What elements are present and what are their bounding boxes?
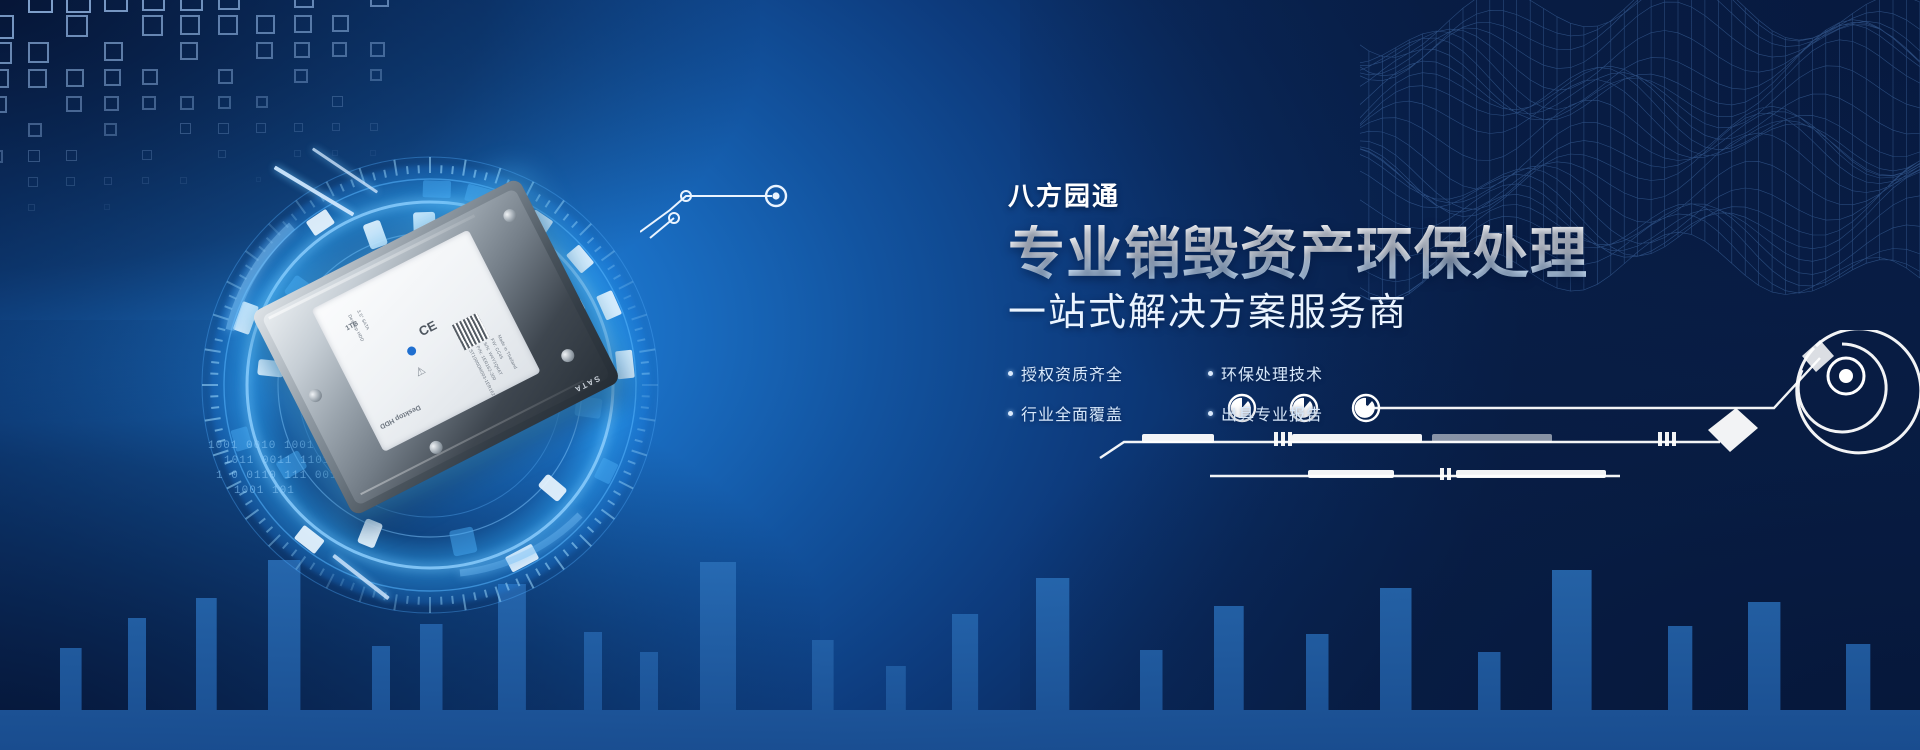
warning-mark: ⚠ xyxy=(413,363,428,379)
bullet-dot-icon xyxy=(1208,371,1213,376)
binary-text-4: 1001 101 xyxy=(234,485,295,497)
grid-square xyxy=(294,42,310,58)
grid-square xyxy=(294,69,308,83)
feature-label: 出具专业报告 xyxy=(1221,401,1323,425)
grid-square xyxy=(66,15,88,37)
grid-square xyxy=(66,177,75,186)
grid-square xyxy=(0,15,14,39)
grid-square xyxy=(28,69,47,88)
grid-square xyxy=(256,15,275,34)
headline-title: 专业销毁资产环保处理 xyxy=(1008,225,1628,284)
grid-square xyxy=(28,150,40,162)
grid-square xyxy=(180,42,198,60)
hero-banner: 1001 0010 1001 1001 1011 0011 1101 1 0 0… xyxy=(0,0,1920,750)
grid-square xyxy=(370,0,389,7)
grid-square xyxy=(142,177,149,184)
grid-square xyxy=(28,177,38,187)
grid-square xyxy=(180,0,203,11)
ce-mark: CE xyxy=(416,317,439,339)
brand-name: 八方园通 xyxy=(1008,183,1628,209)
banner-copy-block: 八方园通 专业销毁资产环保处理 一站式解决方案服务商 授权资质齐全 环保处理技术… xyxy=(1008,183,1628,425)
grid-square xyxy=(104,42,123,61)
grid-square xyxy=(256,42,273,59)
feature-label: 授权资质齐全 xyxy=(1021,361,1123,385)
grid-square xyxy=(104,123,117,136)
grid-square xyxy=(218,0,240,10)
feature-item: 行业全面覆盖 xyxy=(1008,401,1208,425)
bullet-dot-icon xyxy=(1208,411,1213,416)
grid-square xyxy=(332,15,349,32)
grid-square xyxy=(28,204,35,211)
bullet-dot-icon xyxy=(1008,371,1013,376)
grid-square xyxy=(104,177,112,185)
node-connector-graphic xyxy=(640,170,820,240)
feature-label: 行业全面覆盖 xyxy=(1021,401,1123,425)
feature-list: 授权资质齐全 环保处理技术 行业全面覆盖 出具专业报告 xyxy=(1008,361,1408,425)
grid-square xyxy=(28,0,53,13)
grid-square xyxy=(28,42,49,63)
grid-square xyxy=(142,69,158,85)
feature-item: 出具专业报告 xyxy=(1208,401,1408,425)
grid-square xyxy=(294,0,314,8)
grid-square xyxy=(0,69,9,88)
grid-square xyxy=(0,96,7,113)
hdd-dot xyxy=(406,345,418,357)
binary-text-2: 1011 0011 1101 xyxy=(224,455,330,467)
grid-square xyxy=(370,69,382,81)
grid-square xyxy=(180,15,200,35)
grid-square xyxy=(28,123,42,137)
grid-square xyxy=(104,96,119,111)
hdd-tech-ring-graphic: 1001 0010 1001 1001 1011 0011 1101 1 0 0… xyxy=(150,105,710,665)
grid-square xyxy=(370,42,385,57)
hdd-footer-text: Desktop HDD xyxy=(378,403,421,430)
grid-square xyxy=(218,15,238,35)
bullet-dot-icon xyxy=(1008,411,1013,416)
grid-square xyxy=(0,150,3,163)
grid-square xyxy=(104,69,121,86)
grid-square xyxy=(294,15,312,33)
grid-square xyxy=(66,150,77,161)
grid-square xyxy=(66,0,91,13)
grid-square xyxy=(218,69,233,84)
grid-square xyxy=(104,204,110,210)
grid-square xyxy=(66,96,82,112)
feature-label: 环保处理技术 xyxy=(1221,361,1323,385)
grid-square xyxy=(0,42,12,64)
binary-text-3: 1 0 0110 111 0011 xyxy=(216,470,345,482)
subheadline-title: 一站式解决方案服务商 xyxy=(1008,293,1628,335)
grid-square xyxy=(332,42,347,57)
feature-item: 授权资质齐全 xyxy=(1008,361,1208,385)
grid-square xyxy=(104,0,128,12)
feature-item: 环保处理技术 xyxy=(1208,361,1408,385)
grid-square xyxy=(66,69,84,87)
grid-square xyxy=(142,15,163,36)
grid-square xyxy=(142,0,165,11)
